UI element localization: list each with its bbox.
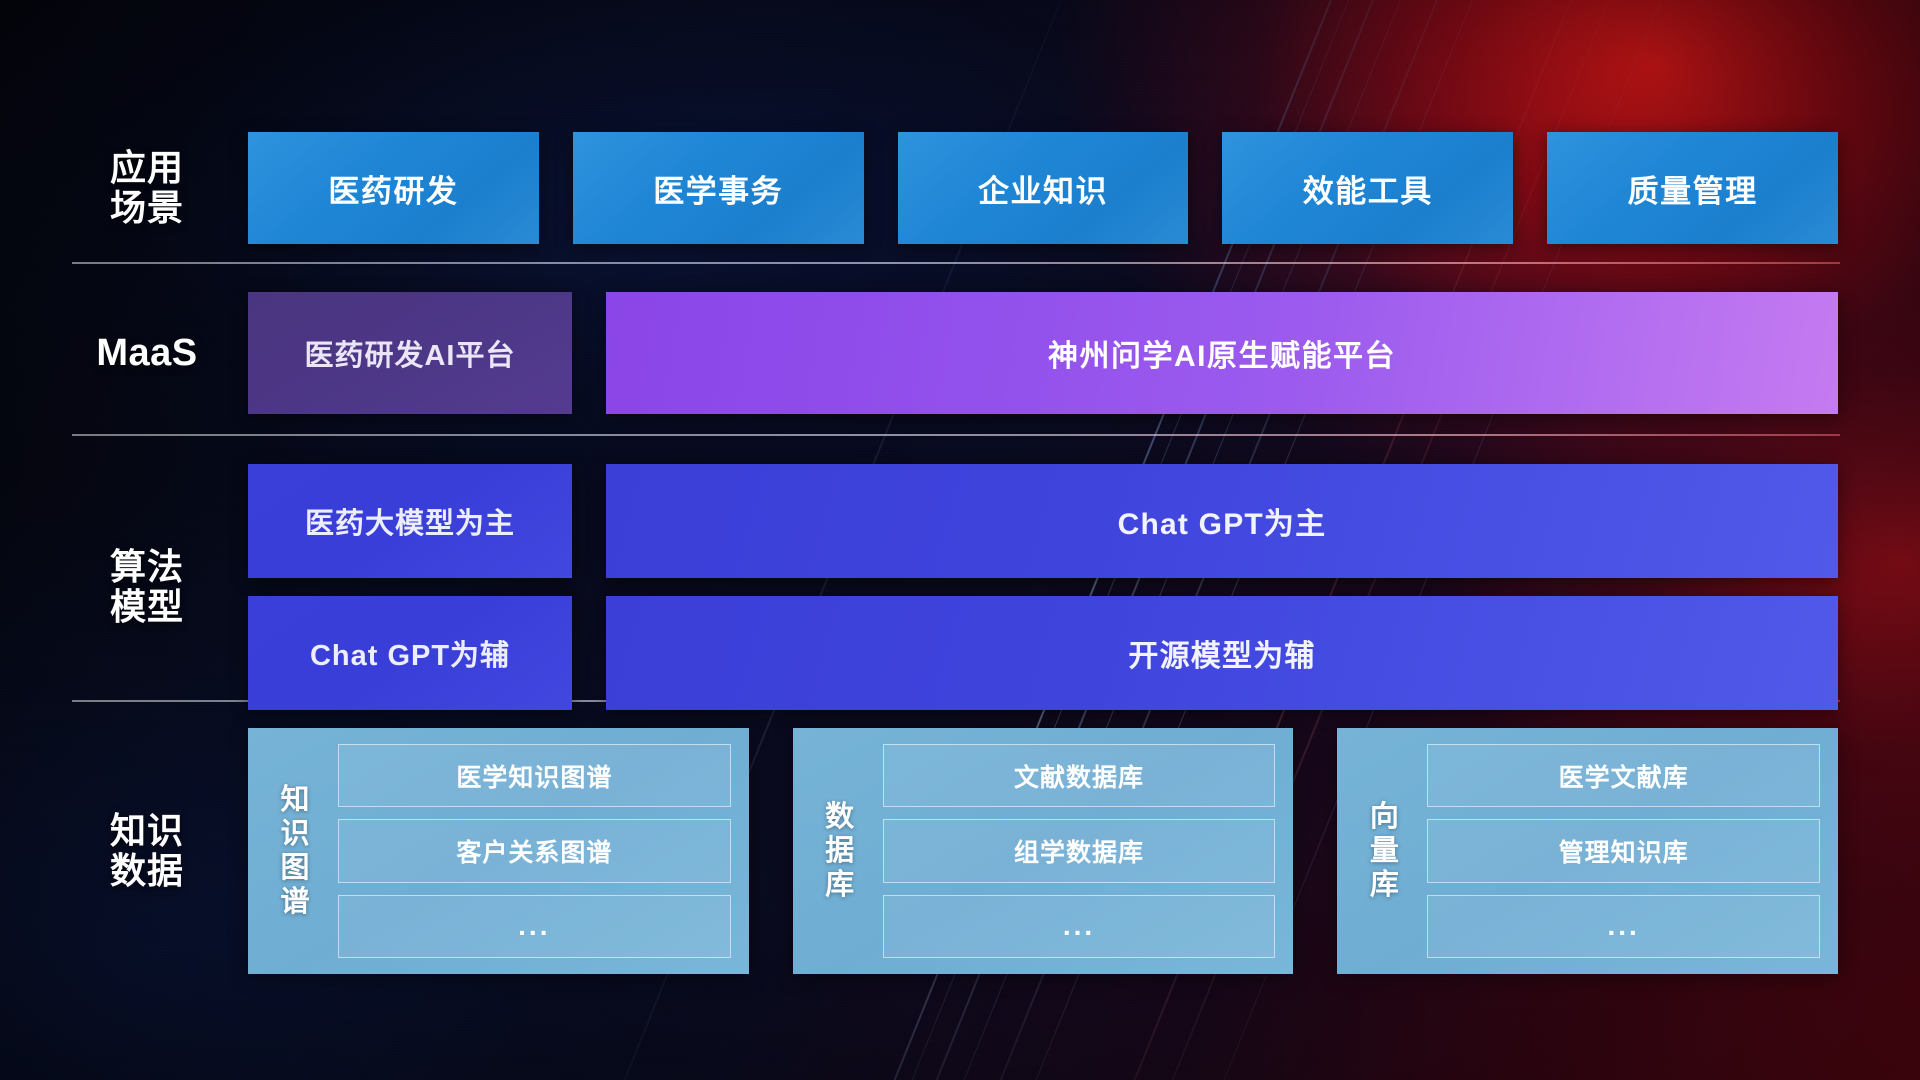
knowledge-item-more-vector-store[interactable]: ... xyxy=(1427,895,1820,958)
algo-box-opensource-secondary[interactable]: 开源模型为辅 xyxy=(606,596,1838,710)
row-label-maas: MaaS xyxy=(72,332,222,375)
knowledge-items-database: 文献数据库 组学数据库 ... xyxy=(883,744,1276,958)
row-label-line-1: 算法 xyxy=(72,547,222,587)
row-label-line-2: 模型 xyxy=(72,587,222,627)
app-box-quality-management[interactable]: 质量管理 xyxy=(1547,132,1838,244)
divider-maas-algo xyxy=(72,434,1840,436)
app-box-enterprise-knowledge[interactable]: 企业知识 xyxy=(898,132,1189,244)
row-label-line-2: 数据 xyxy=(72,851,222,891)
knowledge-panel-knowledge-graph: 知识图谱 医学知识图谱 客户关系图谱 ... xyxy=(248,728,749,974)
row-label-line-2: 场景 xyxy=(72,188,222,228)
row-label-algorithm-model: 算法 模型 xyxy=(72,547,222,628)
row-label-application-scenarios: 应用 场景 xyxy=(72,148,222,229)
algorithm-model-secondary-row: Chat GPT为辅 开源模型为辅 xyxy=(248,596,1838,710)
algo-box-pharma-large-model-primary[interactable]: 医药大模型为主 xyxy=(248,464,572,578)
knowledge-item-literature-database[interactable]: 文献数据库 xyxy=(883,744,1276,807)
algorithm-model-primary-row: 医药大模型为主 Chat GPT为主 xyxy=(248,464,1838,578)
knowledge-panel-label-knowledge-graph: 知识图谱 xyxy=(266,744,324,958)
knowledge-item-omics-database[interactable]: 组学数据库 xyxy=(883,819,1276,882)
maas-box-drug-rnd-ai-platform[interactable]: 医药研发AI平台 xyxy=(248,292,572,414)
knowledge-item-management-knowledge-store[interactable]: 管理知识库 xyxy=(1427,819,1820,882)
row-label-line-1: 应用 xyxy=(72,148,222,188)
maas-box-shenzhou-wenxue-platform[interactable]: 神州问学AI原生赋能平台 xyxy=(606,292,1838,414)
knowledge-panel-label-vector-store: 向量库 xyxy=(1355,744,1413,958)
knowledge-items-knowledge-graph: 医学知识图谱 客户关系图谱 ... xyxy=(338,744,731,958)
knowledge-items-vector-store: 医学文献库 管理知识库 ... xyxy=(1427,744,1820,958)
algo-box-chatgpt-primary[interactable]: Chat GPT为主 xyxy=(606,464,1838,578)
knowledge-data-row: 知识图谱 医学知识图谱 客户关系图谱 ... 数据库 文献数据库 组学数据库 .… xyxy=(248,728,1838,974)
app-box-medical-affairs[interactable]: 医学事务 xyxy=(573,132,864,244)
application-scenarios-row: 医药研发 医学事务 企业知识 效能工具 质量管理 xyxy=(248,132,1838,244)
algo-box-chatgpt-secondary[interactable]: Chat GPT为辅 xyxy=(248,596,572,710)
knowledge-panel-vector-store: 向量库 医学文献库 管理知识库 ... xyxy=(1337,728,1838,974)
knowledge-panel-label-database: 数据库 xyxy=(811,744,869,958)
maas-row: 医药研发AI平台 神州问学AI原生赋能平台 xyxy=(248,292,1838,414)
row-label-knowledge-data: 知识 数据 xyxy=(72,811,222,892)
divider-apps-maas xyxy=(72,262,1840,264)
app-box-drug-rnd[interactable]: 医药研发 xyxy=(248,132,539,244)
knowledge-item-medical-literature-store[interactable]: 医学文献库 xyxy=(1427,744,1820,807)
slide-canvas: 应用 场景 医药研发 医学事务 企业知识 效能工具 质量管理 MaaS 医药研发… xyxy=(0,0,1920,1080)
knowledge-item-medical-knowledge-graph[interactable]: 医学知识图谱 xyxy=(338,744,731,807)
knowledge-item-customer-relation-graph[interactable]: 客户关系图谱 xyxy=(338,819,731,882)
knowledge-item-more-knowledge-graph[interactable]: ... xyxy=(338,895,731,958)
app-box-efficiency-tools[interactable]: 效能工具 xyxy=(1222,132,1513,244)
knowledge-item-more-database[interactable]: ... xyxy=(883,895,1276,958)
knowledge-panel-database: 数据库 文献数据库 组学数据库 ... xyxy=(793,728,1294,974)
row-label-line-1: 知识 xyxy=(72,811,222,851)
algorithm-model-row: 医药大模型为主 Chat GPT为主 Chat GPT为辅 开源模型为辅 xyxy=(248,464,1838,710)
